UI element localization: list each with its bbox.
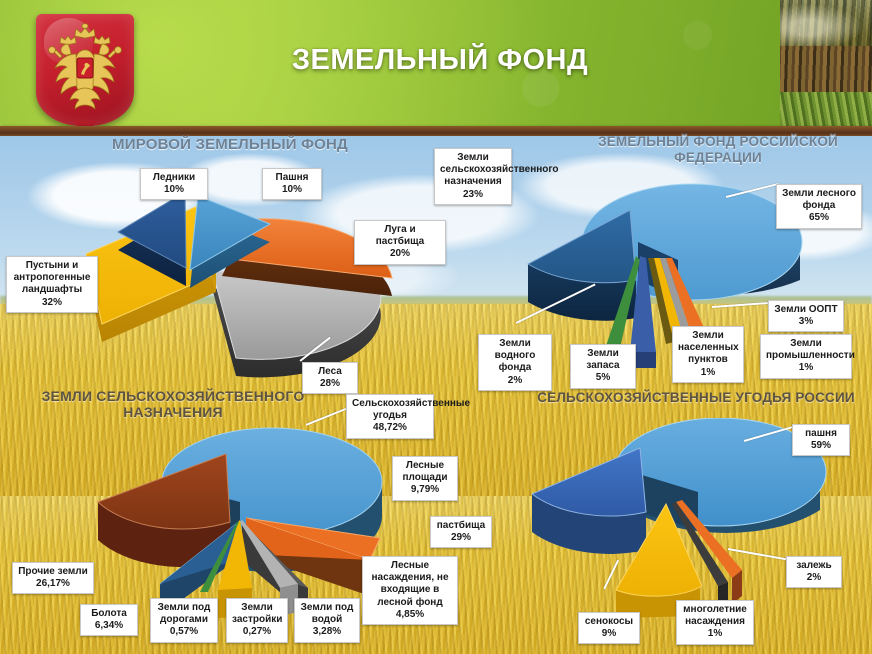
label-settlements-lands: Земли населенных пунктов1% — [672, 326, 744, 383]
chart-title-russia-land-fund: ЗЕМЕЛЬНЫЙ ФОНД РОССИЙСКОЙ ФЕДЕРАЦИИ — [568, 134, 868, 165]
label-agri-purpose-russia: Земли сельскохозяйственного назначения23… — [434, 148, 512, 205]
label-protected-areas: Земли ООПТ3% — [768, 300, 844, 332]
label-reserve-lands: Земли запаса5% — [570, 344, 636, 389]
label-fallow: залежь2% — [786, 556, 842, 588]
label-pasture: пастбища29% — [430, 516, 492, 548]
label-arable: пашня59% — [792, 424, 850, 456]
infographic-poster: ЗЕМЕЛЬНЫЙ ФОНД — [0, 0, 872, 654]
label-perennials: многолетние насаждения1% — [676, 600, 754, 645]
page-header: ЗЕМЕЛЬНЫЙ ФОНД — [0, 0, 872, 126]
label-road-lands: Земли под дорогами0,57% — [150, 598, 218, 643]
label-forests-world: Леса28% — [302, 362, 358, 394]
chart-title-agri-lands-russia: СЕЛЬСКОХОЗЯЙСТВЕННЫЕ УГОДЬЯ РОССИИ — [520, 390, 872, 406]
label-deserts: Пустыни и антропогенные ландшафты32% — [6, 256, 98, 313]
slice-pasture — [532, 448, 646, 554]
forest-photo — [780, 0, 872, 126]
chart-title-agri-purpose-lands: ЗЕМЛИ СЕЛЬСКОХОЗЯЙСТВЕННОГО НАЗНАЧЕНИЯ — [8, 388, 338, 420]
label-forest-plantings: Лесные насаждения, не входящие в лесной … — [362, 556, 458, 625]
label-meadows: Луга и пастбища20% — [354, 220, 446, 265]
label-agri-lands: Сельскохозяйственные угодья48,72% — [346, 394, 434, 439]
label-water-fund: Земли водного фонда2% — [478, 334, 552, 391]
page-title: ЗЕМЕЛЬНЫЙ ФОНД — [244, 44, 636, 77]
russian-coat-of-arms-icon — [36, 14, 134, 126]
label-built-up-lands: Земли застройки0,27% — [226, 598, 288, 643]
label-glaciers: Ледники10% — [140, 168, 208, 200]
label-hayfields: сенокосы9% — [578, 612, 640, 644]
label-water-covered-lands: Земли под водой3,28% — [294, 598, 360, 643]
label-forest-areas: Лесные площади9,79% — [392, 456, 458, 501]
label-cropland-world: Пашня10% — [262, 168, 322, 200]
label-other-lands: Прочие земли26,17% — [12, 562, 94, 594]
label-forest-fund: Земли лесного фонда65% — [776, 184, 862, 229]
label-swamps: Болота6,34% — [80, 604, 138, 636]
chart-title-world-land-fund: МИРОВОЙ ЗЕМЕЛЬНЫЙ ФОНД — [70, 136, 390, 153]
label-industry-lands: Земли промышленности1% — [760, 334, 852, 379]
slice-agri-purpose — [528, 210, 636, 321]
